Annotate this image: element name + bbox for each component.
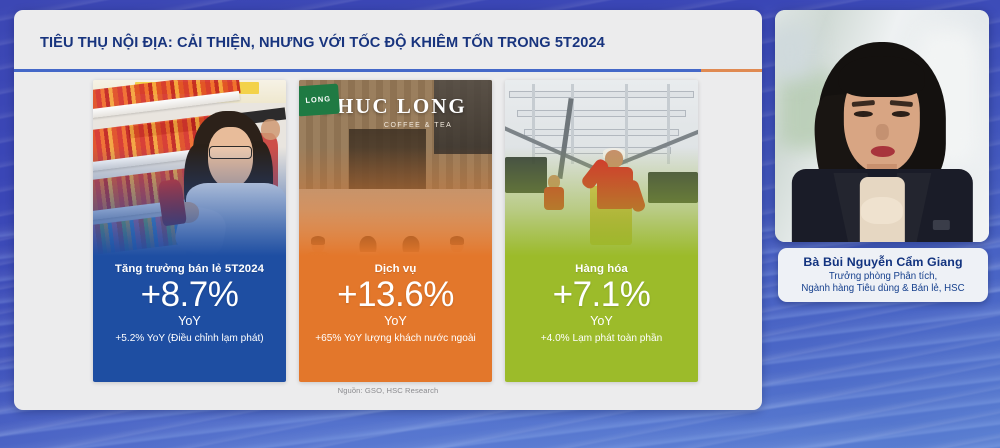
supermarket-scene — [93, 80, 286, 256]
speaker-video-tile[interactable] — [775, 10, 989, 242]
speaker-title-line2: Ngành hàng Tiêu dùng & Bán lẻ, HSC — [801, 283, 964, 295]
stat-card-goods: Hàng hóa +7.1% YoY +4.0% Lạm phát toàn p… — [505, 80, 698, 382]
store-sign-text: PHUC LONG — [322, 91, 484, 123]
speaker-nose — [875, 124, 888, 140]
stat-label: Dịch vụ — [375, 263, 417, 275]
speaker-eye-right — [891, 111, 910, 117]
title-rule-blue-segment — [14, 69, 701, 72]
store-doorway — [349, 129, 426, 189]
product-bottle — [157, 179, 187, 227]
warehouse-rack-3 — [524, 129, 678, 136]
stat-note: +5.2% YoY (Điều chỉnh lạm phát) — [110, 333, 268, 345]
warehouse-worker-photo — [505, 80, 698, 256]
rack-post-4 — [667, 84, 670, 165]
speaker-title-line1: Trưởng phòng Phân tích, — [829, 271, 937, 283]
stat-value: +7.1% — [553, 277, 651, 313]
stat-card-services: PHUC LONG COFFEE & TEA LONG — [299, 80, 492, 382]
store-sign-subtext: COFFEE & TEA — [384, 122, 452, 129]
pedestrian-hair — [450, 236, 464, 245]
stat-card-retail: Tăng trưởng bán lẻ 5T2024 +8.7% YoY +5.2… — [93, 80, 286, 382]
presentation-slide: TIÊU THỤ NỘI ĐỊA: CẢI THIỆN, NHƯNG VỚI T… — [14, 10, 762, 410]
slide-title: TIÊU THỤ NỘI ĐỊA: CẢI THIỆN, NHƯNG VỚI T… — [40, 34, 605, 51]
stat-value: +13.6% — [337, 277, 454, 313]
title-underline-rule — [14, 69, 762, 72]
storefront-scene: PHUC LONG COFFEE & TEA LONG — [299, 80, 492, 256]
speaker-hair-front — [839, 56, 926, 97]
rack-post-2 — [571, 84, 574, 165]
source-note: Nguồn: GSO, HSC Research — [14, 386, 762, 395]
speaker-name: Bà Bùi Nguyễn Cẩm Giang — [803, 255, 962, 269]
stat-panel-retail: Tăng trưởng bán lẻ 5T2024 +8.7% YoY +5.2… — [93, 256, 286, 382]
speaker-blouse-bow — [861, 197, 902, 224]
speaker-figure — [788, 38, 976, 242]
stat-panel-goods: Hàng hóa +7.1% YoY +4.0% Lạm phát toàn p… — [505, 256, 698, 382]
stat-value: +8.7% — [141, 277, 239, 313]
stat-card-group: Tăng trưởng bán lẻ 5T2024 +8.7% YoY +5.2… — [93, 80, 699, 382]
stat-note: +65% YoY lượng khách nước ngoài — [310, 333, 480, 345]
stat-yoy: YoY — [590, 314, 613, 328]
warehouse-worker-figure — [594, 150, 636, 231]
rack-post-1 — [532, 84, 535, 165]
crate-left — [505, 157, 547, 192]
webinar-stage: TIÊU THỤ NỘI ĐỊA: CẢI THIỆN, NHƯNG VỚI T… — [0, 0, 1000, 448]
background-worker-shirt — [544, 187, 564, 210]
phuc-long-storefront-photo: PHUC LONG COFFEE & TEA LONG — [299, 80, 492, 256]
stat-label: Tăng trưởng bán lẻ 5T2024 — [115, 263, 264, 275]
crate-right — [648, 172, 698, 204]
warehouse-rack-2 — [517, 110, 687, 117]
stat-yoy: YoY — [384, 314, 407, 328]
speaker-eye-left — [854, 111, 873, 117]
stat-yoy: YoY — [178, 314, 201, 328]
warehouse-scene — [505, 80, 698, 256]
title-rule-orange-segment — [701, 69, 762, 72]
speaker-name-card: Bà Bùi Nguyễn Cẩm Giang Trưởng phòng Phâ… — [778, 248, 988, 302]
pedestrian-hair — [311, 236, 325, 245]
stat-note: +4.0% Lạm phát toàn phần — [536, 333, 668, 345]
shopper-glasses — [209, 146, 252, 160]
shopper-figure — [182, 105, 286, 256]
stat-label: Hàng hóa — [575, 263, 628, 275]
supermarket-shopper-photo — [93, 80, 286, 256]
store-logo-badge: LONG — [299, 84, 341, 117]
stat-panel-services: Dịch vụ +13.6% YoY +65% YoY lượng khách … — [299, 256, 492, 382]
speaker-lapel-pin — [933, 220, 950, 230]
background-worker — [544, 175, 565, 210]
